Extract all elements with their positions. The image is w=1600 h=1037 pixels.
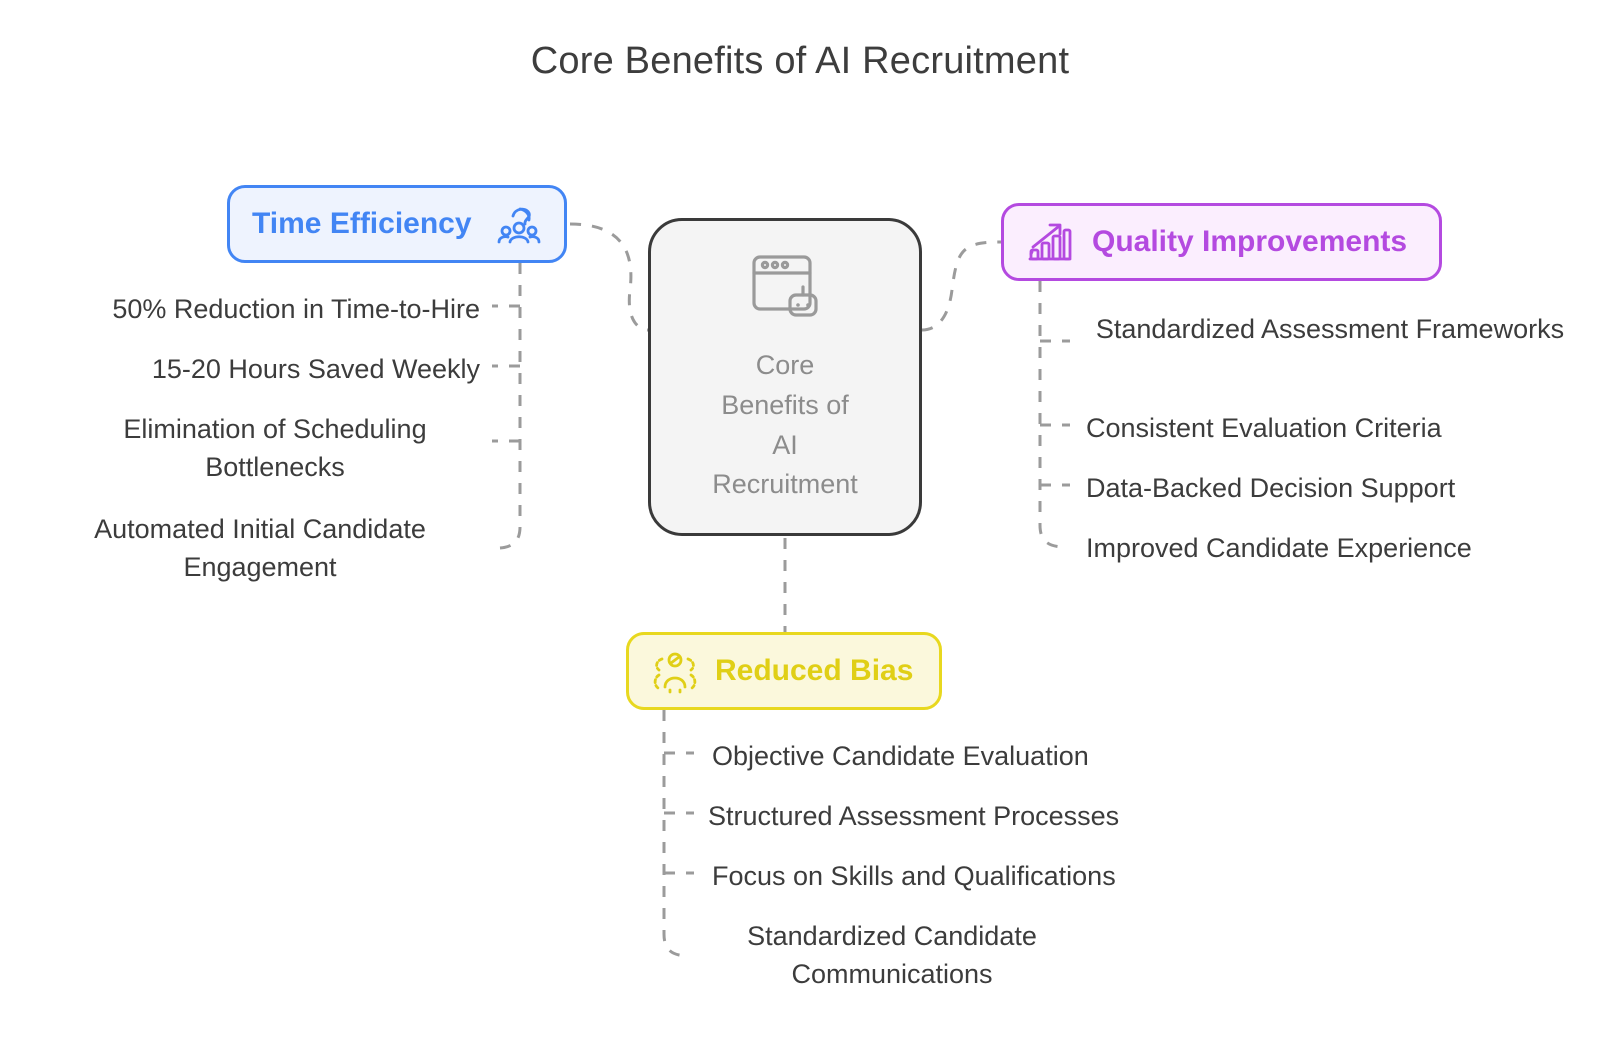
branch-label-time-efficiency: Time Efficiency bbox=[252, 207, 472, 241]
leaf-time-4: Automated Initial Candidate Engagement bbox=[40, 510, 480, 587]
leaf-bias-3: Focus on Skills and Qualifications bbox=[712, 857, 1252, 895]
leaf-bias-1: Objective Candidate Evaluation bbox=[712, 737, 1252, 775]
connector-bias-spine bbox=[664, 710, 686, 956]
branch-node-quality-improvements[interactable]: Quality Improvements bbox=[1001, 203, 1442, 281]
leaf-time-1: 50% Reduction in Time-to-Hire bbox=[20, 290, 480, 328]
connector-quality-spine bbox=[1040, 281, 1062, 547]
diverse-people-icon bbox=[651, 647, 699, 695]
leaf-quality-4: Improved Candidate Experience bbox=[1086, 529, 1596, 567]
growth-bar-chart-icon bbox=[1026, 219, 1074, 265]
leaf-bias-2: Structured Assessment Processes bbox=[708, 797, 1248, 835]
connector-time-to-center bbox=[570, 224, 648, 330]
leaf-time-3: Elimination of Scheduling Bottlenecks bbox=[70, 410, 480, 487]
ai-browser-robot-icon bbox=[745, 249, 825, 332]
branch-label-quality-improvements: Quality Improvements bbox=[1092, 225, 1407, 259]
branch-node-reduced-bias[interactable]: Reduced Bias bbox=[626, 632, 942, 710]
connector-center-to-quality bbox=[922, 242, 1001, 330]
leaf-time-2: 15-20 Hours Saved Weekly bbox=[20, 350, 480, 388]
leaf-quality-1: Standardized Assessment Frameworks bbox=[1080, 310, 1580, 348]
branch-label-reduced-bias: Reduced Bias bbox=[715, 654, 913, 688]
leaf-quality-3: Data-Backed Decision Support bbox=[1086, 469, 1596, 507]
leaf-bias-4: Standardized Candidate Communications bbox=[712, 917, 1072, 994]
page-title: Core Benefits of AI Recruitment bbox=[0, 40, 1600, 83]
leaf-quality-2: Consistent Evaluation Criteria bbox=[1086, 409, 1596, 447]
branch-node-time-efficiency[interactable]: Time Efficiency bbox=[227, 185, 567, 263]
central-node[interactable]: Core Benefits of AI Recruitment bbox=[648, 218, 922, 536]
central-node-label: Core Benefits of AI Recruitment bbox=[712, 346, 858, 506]
connector-time-spine bbox=[500, 263, 520, 548]
people-group-speed-icon bbox=[496, 201, 542, 247]
